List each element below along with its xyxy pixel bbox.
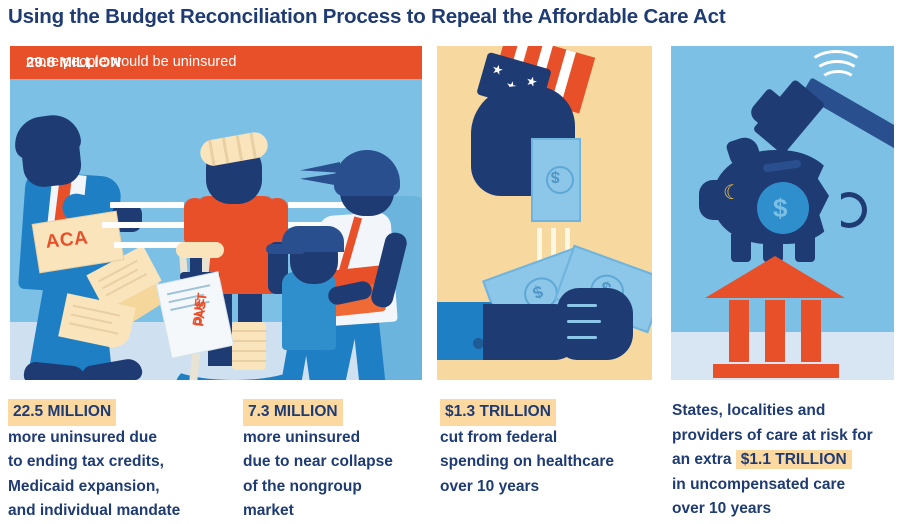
panel-uninsured-people: ACA PASTDUE: [10, 46, 422, 380]
caption-line: to ending tax credits,: [8, 450, 233, 475]
caption-highlight: 7.3 MILLION: [243, 399, 343, 426]
crutch-pad: [176, 242, 224, 258]
child-cap: [282, 226, 344, 252]
coin: $: [757, 182, 809, 234]
caption-line: more uninsured: [243, 426, 433, 451]
caption-line: and individual mandate: [8, 499, 233, 524]
caption-line: cut from federal: [440, 426, 655, 451]
caption-line: States, localities and: [672, 399, 900, 424]
caption-line: over 10 years: [672, 497, 900, 522]
caption-line: spending on healthcare: [440, 450, 655, 475]
uninsured-banner: 29.8 MILLION more people would be uninsu…: [10, 46, 422, 79]
caption-line: more uninsured due: [8, 426, 233, 451]
page-title: Using the Budget Reconciliation Process …: [8, 5, 725, 29]
government-building-column: [729, 300, 749, 362]
government-building-base: [713, 364, 839, 378]
caption-highlight: $1.1 TRILLION: [736, 450, 852, 469]
caption-7-3-million: 7.3 MILLION more uninsured due to near c…: [243, 399, 433, 524]
caption-line: in uncompensated care: [672, 473, 900, 498]
caption-line: providers of care at risk for: [672, 424, 900, 449]
motion-line: [102, 222, 188, 228]
caption-1-3-trillion: $1.3 TRILLION cut from federal spending …: [440, 399, 655, 499]
caption-22-5-million: 22.5 MILLION more uninsured due to endin…: [8, 399, 233, 524]
dollar-sign: $: [773, 193, 787, 224]
caption-line: over 10 years: [440, 475, 655, 500]
caption-highlight: $1.3 TRILLION: [440, 399, 556, 426]
government-building-roof: [705, 256, 845, 298]
panel-federal-spending-cut: ★ ★ ★ $ $ $: [437, 46, 652, 380]
motion-line: [114, 242, 184, 248]
caption-line: of the nongroup: [243, 475, 433, 500]
dollar-sign: $: [551, 167, 560, 185]
star-icon: ★: [490, 62, 505, 78]
caption-line: Medicaid expansion,: [8, 475, 233, 500]
caption-line: market: [243, 499, 433, 524]
infographic-root: Using the Budget Reconciliation Process …: [0, 0, 904, 524]
motion-line: [110, 202, 184, 208]
piggy-eye: ☾: [723, 180, 741, 198]
dollar-bill-pulled: $: [531, 138, 581, 222]
caption-line: due to near collapse: [243, 450, 433, 475]
leg-cast: [232, 322, 266, 370]
panel-piggy-bank-smashed: ☾ $: [671, 46, 894, 380]
caption-line-with-highlight: an extra $1.1 TRILLION: [672, 448, 900, 473]
aca-paper-label: ACA: [45, 228, 90, 254]
caption-highlight: 22.5 MILLION: [8, 399, 116, 426]
government-building-column: [801, 300, 821, 362]
banner-rest: more people would be uninsured: [26, 46, 236, 79]
caption-inline-prefix: an extra: [672, 451, 736, 468]
taxpayer-fist: [557, 288, 633, 360]
woman-hair: [334, 150, 400, 196]
government-building-column: [765, 300, 785, 362]
caption-1-1-trillion: States, localities and providers of care…: [672, 399, 900, 522]
